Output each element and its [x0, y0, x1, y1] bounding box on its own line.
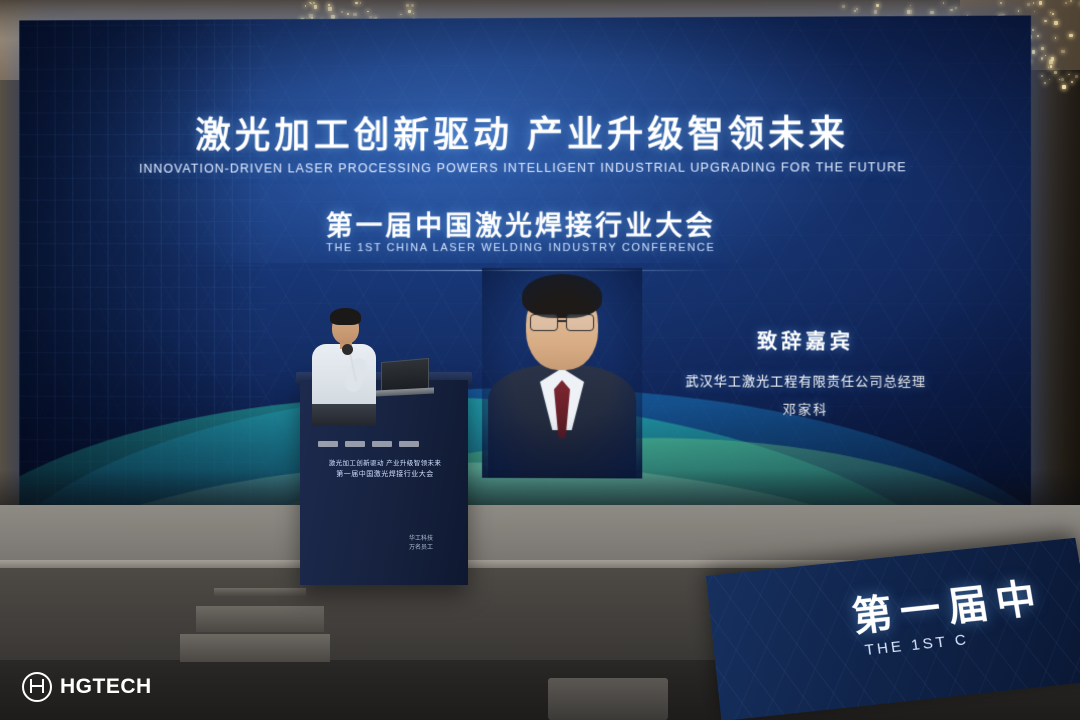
podium-line2: 第一届中国激光焊接行业大会: [310, 469, 460, 479]
speaker-hair: [330, 308, 361, 325]
microphone-icon: [342, 344, 353, 355]
podium-footer: 华工科技 万名员工: [398, 535, 444, 553]
stage-prop-box: [548, 678, 668, 720]
podium-sponsor-logos: [318, 440, 448, 448]
hgtech-watermark: HGTECH: [22, 672, 152, 702]
hgtech-logo-icon: [22, 672, 52, 702]
stage-step-rail: [214, 588, 306, 596]
right-wall-shadow: [1028, 70, 1080, 530]
screen-vignette: [19, 16, 1031, 511]
stage-step-lower: [180, 634, 330, 662]
speaker-lower-body: [312, 404, 376, 426]
led-screen: 激光加工创新驱动 产业升级智领未来 INNOVATION-DRIVEN LASE…: [19, 16, 1031, 511]
photo-scene: 激光加工创新驱动 产业升级智领未来 INNOVATION-DRIVEN LASE…: [0, 0, 1080, 720]
podium-foot-line2: 万名员工: [398, 544, 444, 553]
stage-step-upper: [196, 606, 324, 632]
podium-foot-line1: 华工科技: [398, 535, 444, 544]
podium-line1: 激光加工创新驱动 产业升级智领未来: [310, 457, 460, 467]
hgtech-brand-text: HGTECH: [60, 675, 152, 699]
